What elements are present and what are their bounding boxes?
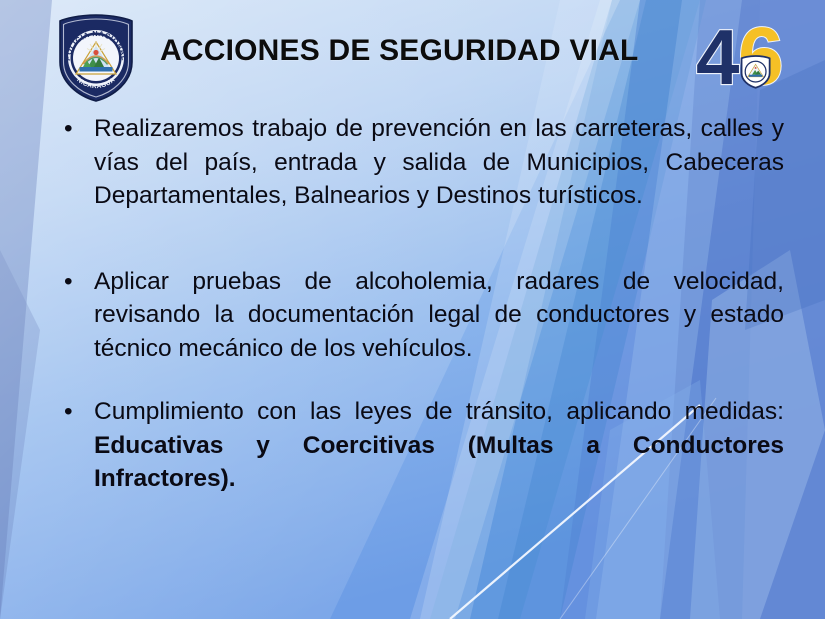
logo-digit-four: 4: [696, 13, 739, 100]
presentation-slide: POLICIA NACIONAL NICARAGUA: [0, 0, 825, 619]
logo-small-badge-icon: [742, 56, 770, 88]
spacer: [56, 365, 784, 395]
policia-nacional-badge: POLICIA NACIONAL NICARAGUA: [52, 12, 140, 104]
bullet-marker: •: [64, 395, 73, 429]
anniversary-46-logo: 4 6: [694, 8, 814, 100]
bullet-text-3-bold: Educativas y Coercitivas (Multas a Condu…: [94, 432, 784, 493]
bullet-text-1: Realizaremos trabajo de prevención en la…: [94, 115, 784, 209]
spacer: [56, 213, 784, 265]
bullet-marker: •: [64, 265, 73, 299]
bullet-text-3-plain: Cumplimiento con las leyes de tránsito, …: [94, 398, 784, 425]
slide-body: • Realizaremos trabajo de prevención en …: [56, 112, 784, 496]
slide-title: ACCIONES DE SEGURIDAD VIAL: [160, 34, 690, 68]
list-item: • Aplicar pruebas de alcoholemia, radare…: [56, 265, 784, 366]
bullet-marker: •: [64, 112, 73, 146]
list-item: • Realizaremos trabajo de prevención en …: [56, 112, 784, 213]
bullet-text-2: Aplicar pruebas de alcoholemia, radares …: [94, 268, 784, 362]
list-item: • Cumplimiento con las leyes de tránsito…: [56, 395, 784, 496]
